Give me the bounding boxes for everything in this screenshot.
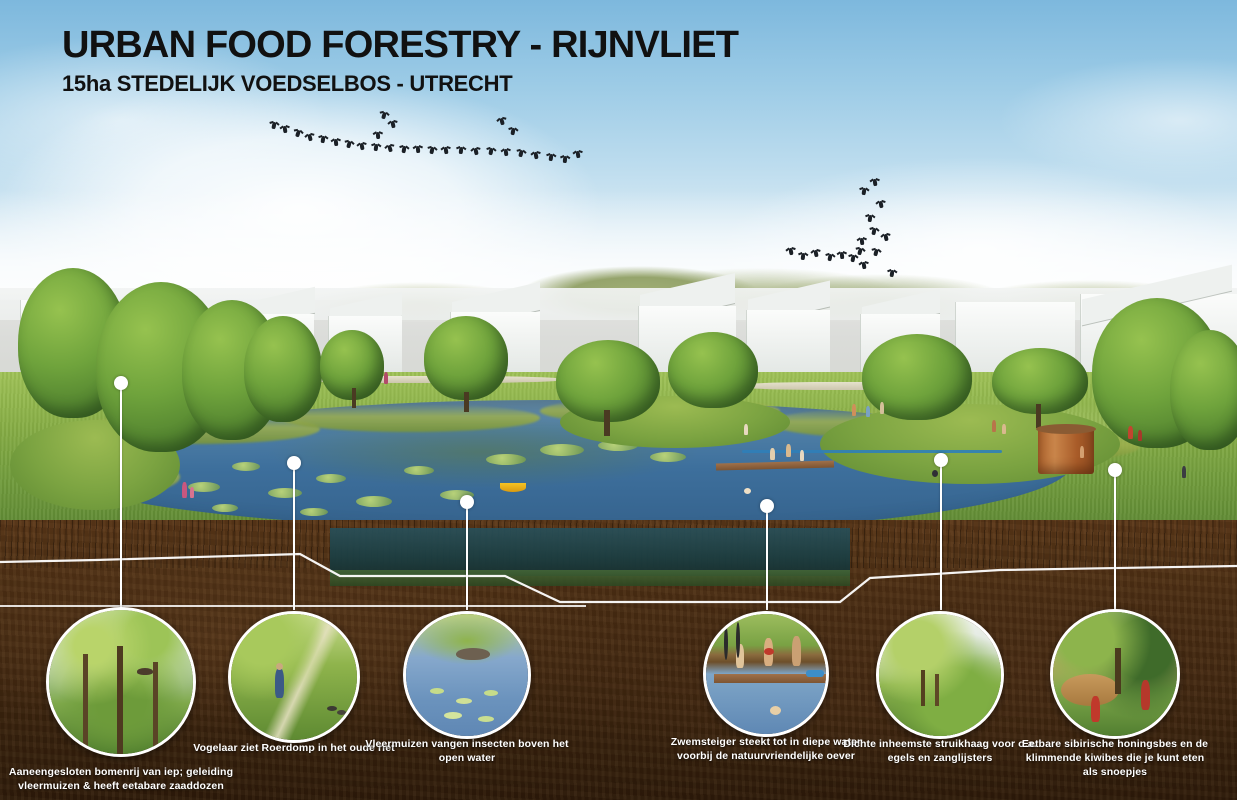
leader-line-6 (1114, 475, 1116, 610)
sauna-roof (1036, 424, 1096, 434)
leader-line-2 (293, 468, 295, 610)
callout-photo-1[interactable] (46, 607, 196, 757)
bat-over-water (456, 648, 490, 660)
callout-2[interactable]: Vogelaar ziet Roerdomp in het oude riet (228, 611, 360, 743)
callout-photo-6[interactable] (1050, 609, 1180, 739)
title-block: URBAN FOOD FORESTRY - RIJNVLIET 15ha STE… (62, 26, 738, 97)
child-picking (1091, 696, 1100, 722)
callout-5[interactable]: Dichte inheemste struikhaag voor o.a. eg… (876, 611, 1004, 739)
leader-line-4 (766, 511, 768, 610)
callout-1[interactable]: Aaneengesloten bomenrij van iep; geleidi… (46, 607, 196, 757)
blue-rail-fence (742, 450, 1002, 453)
submerged-water-body (330, 528, 850, 576)
presentation-board: Aaneengesloten bomenrij van iep; geleidi… (0, 0, 1237, 800)
callout-6[interactable]: Eetbare sibirische honingsbes en de klim… (1050, 609, 1180, 739)
birdwatcher-figure (275, 668, 284, 698)
wooden-fence (1061, 674, 1119, 706)
leader-line-5 (940, 465, 942, 610)
leader-line-3 (466, 507, 468, 610)
page-subtitle: 15ha STEDELIJK VOEDSELBOS - UTRECHT (62, 71, 738, 97)
leader-dot-4[interactable] (760, 499, 774, 513)
yellow-boat (500, 483, 526, 492)
leader-dot-5[interactable] (934, 453, 948, 467)
callout-caption-3: Vleermuizen vangen insecten boven het op… (365, 738, 569, 766)
leader-dot-3[interactable] (460, 495, 474, 509)
callout-caption-6: Eetbare sibirische honingsbes en de klim… (1020, 738, 1210, 780)
callout-photo-5[interactable] (876, 611, 1004, 739)
leader-dot-2[interactable] (287, 456, 301, 470)
callout-photo-2[interactable] (228, 611, 360, 743)
callout-caption-5: Dichte inheemste struikhaag voor o.a. eg… (842, 738, 1038, 766)
pond-floor-vegetation (330, 570, 850, 586)
leader-dot-6[interactable] (1108, 463, 1122, 477)
callout-4[interactable]: Zwemsteiger steekt tot in diepe water vo… (703, 611, 829, 737)
leader-dot-1[interactable] (114, 376, 128, 390)
leader-line-1 (120, 388, 122, 608)
adult-picking (1141, 680, 1150, 710)
page-title: URBAN FOOD FORESTRY - RIJNVLIET (62, 26, 738, 64)
callout-photo-4[interactable] (703, 611, 829, 737)
wooden-sauna-barrel (1038, 428, 1094, 474)
callout-3[interactable]: Vleermuizen vangen insecten boven het op… (403, 611, 531, 739)
bat-silhouette (137, 668, 153, 675)
callout-caption-4: Zwemsteiger steekt tot in diepe water vo… (664, 736, 868, 764)
callout-photo-3[interactable] (403, 611, 531, 739)
callout-caption-1: Aaneengesloten bomenrij van iep; geleidi… (0, 766, 242, 794)
